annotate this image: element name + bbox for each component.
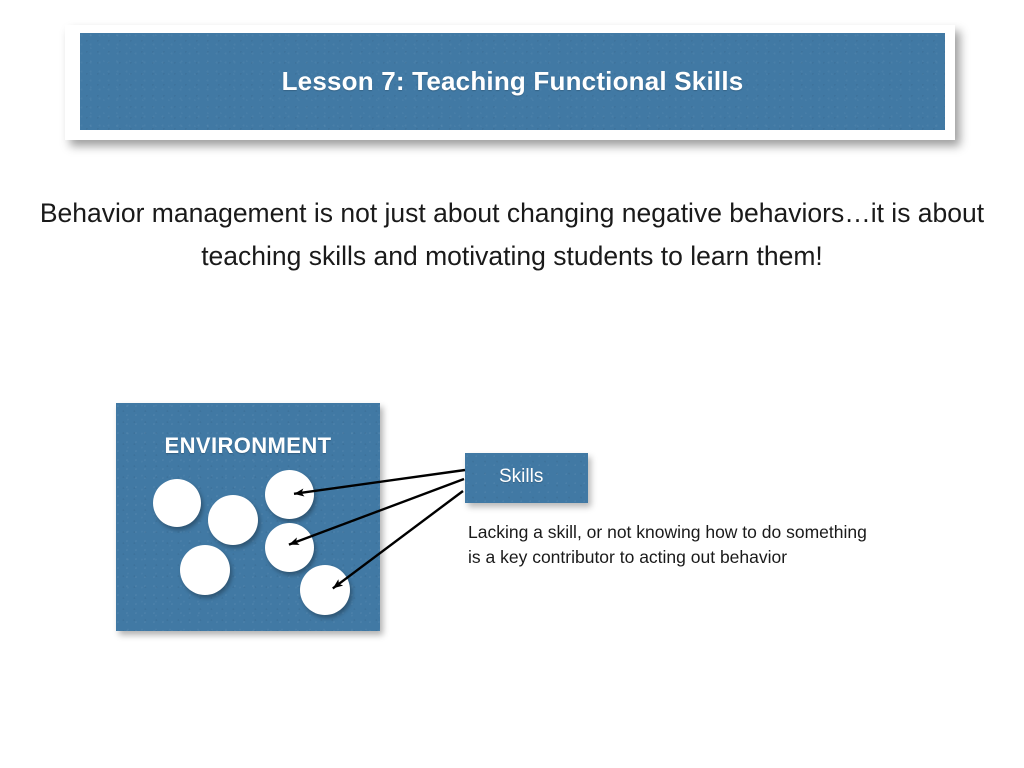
skills-caption: Lacking a skill, or not knowing how to d…: [468, 520, 998, 570]
skills-label: Skills: [499, 466, 543, 488]
skills-caption-line-1: Lacking a skill, or not knowing how to d…: [468, 520, 998, 545]
title-banner-fill: Lesson 7: Teaching Functional Skills: [80, 33, 945, 130]
env-circle-5: [180, 545, 230, 595]
env-circle-2: [208, 495, 258, 545]
slide-title: Lesson 7: Teaching Functional Skills: [282, 66, 744, 97]
lead-paragraph: Behavior management is not just about ch…: [12, 192, 1012, 278]
env-circle-4: [265, 523, 314, 572]
environment-box: ENVIRONMENT: [116, 403, 380, 631]
env-circle-1: [153, 479, 201, 527]
skills-box: Skills: [465, 453, 588, 503]
title-banner: Lesson 7: Teaching Functional Skills: [65, 25, 955, 140]
environment-label: ENVIRONMENT: [116, 433, 380, 459]
env-circle-6: [300, 565, 350, 615]
skills-caption-line-2: is a key contributor to acting out behav…: [468, 545, 998, 570]
env-circle-3: [265, 470, 314, 519]
